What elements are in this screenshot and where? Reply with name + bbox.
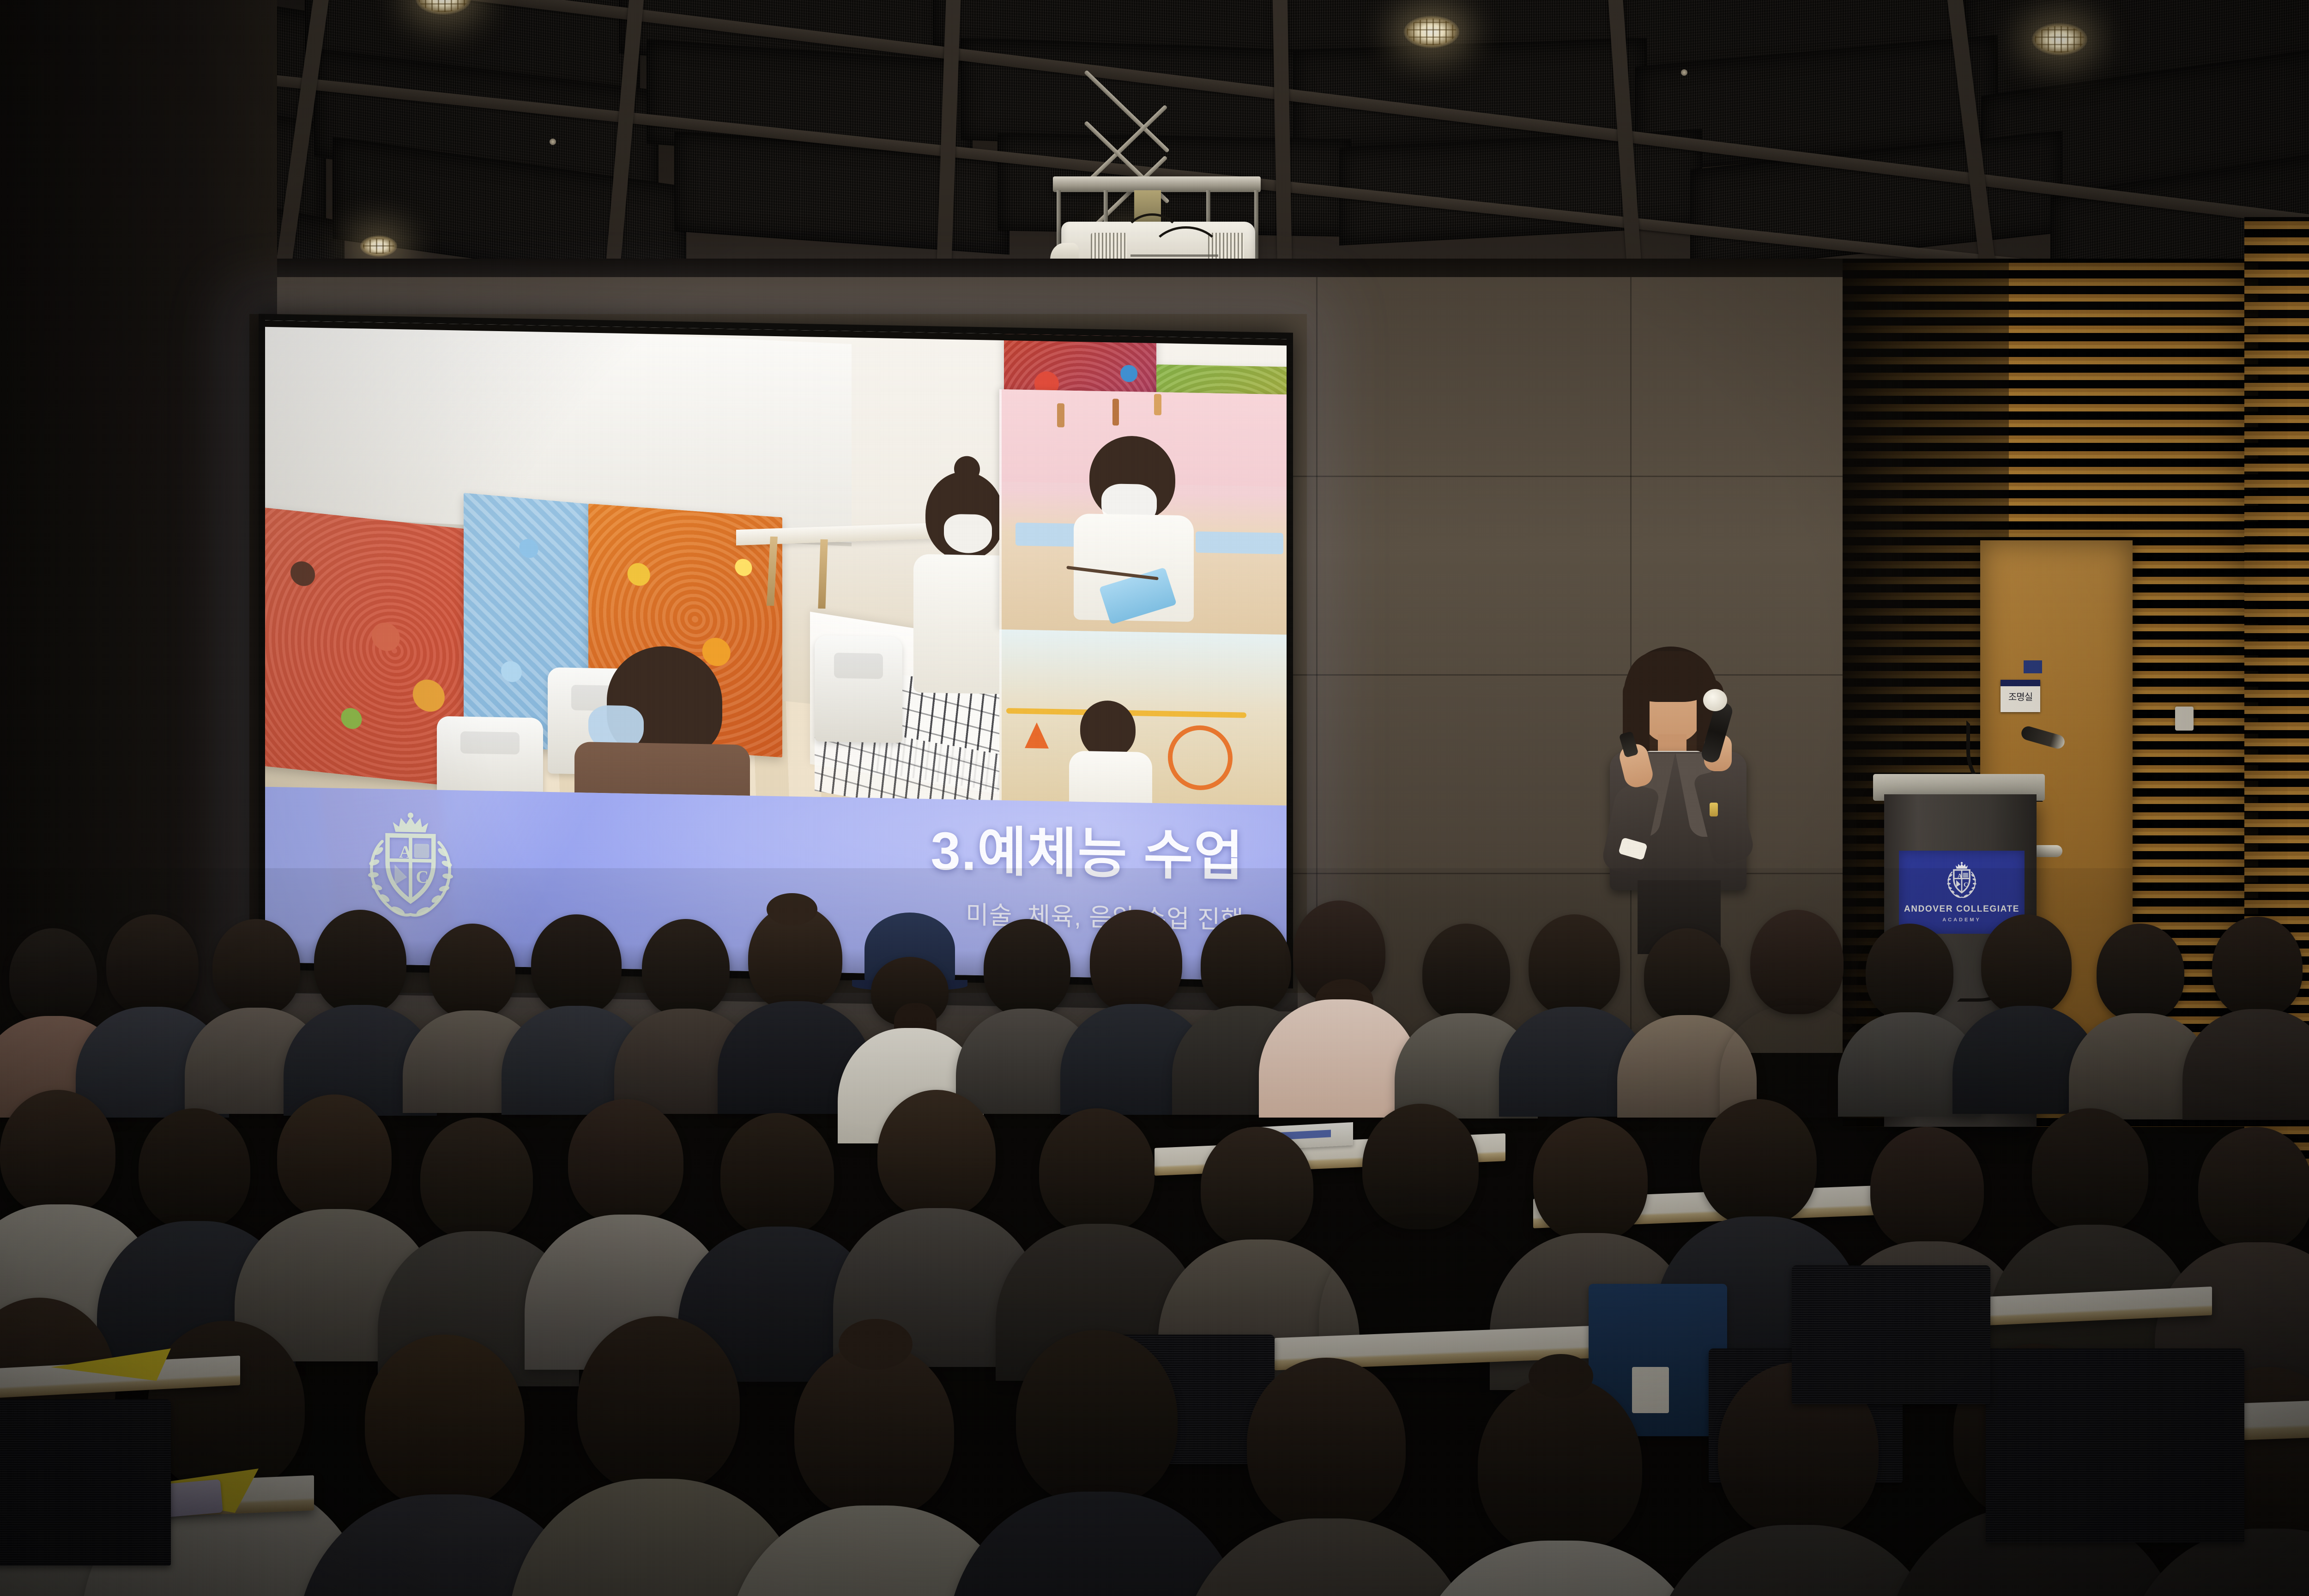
play-hoop	[1168, 725, 1233, 791]
door-sign-header	[2024, 660, 2042, 673]
ceiling-downlight	[360, 236, 397, 257]
microphone-head-icon	[1703, 689, 1727, 711]
ceiling-downlight	[1404, 16, 1459, 48]
lift-plate	[1053, 176, 1261, 192]
sprinkler-head	[550, 139, 556, 145]
classroom-chair	[815, 635, 902, 743]
physical-education-photo	[999, 629, 1287, 805]
chair-back	[1986, 1348, 2244, 1542]
wall-outlet	[2175, 707, 2194, 731]
slide-photo-collage	[265, 320, 1287, 806]
scissor-lift	[1085, 69, 1224, 180]
music-class-photo	[999, 389, 1287, 635]
chair-back	[1792, 1265, 1990, 1404]
chair-back	[0, 1399, 171, 1566]
door-sign: 조명실	[2001, 680, 2040, 712]
presentation-hall-scene: 조명실	[0, 0, 2309, 1596]
bag-tag	[1632, 1367, 1669, 1413]
lapel-badge	[1710, 803, 1718, 816]
sprinkler-head	[1681, 69, 1687, 76]
ceiling-downlight	[2032, 23, 2087, 55]
audience-area	[0, 868, 2309, 1596]
